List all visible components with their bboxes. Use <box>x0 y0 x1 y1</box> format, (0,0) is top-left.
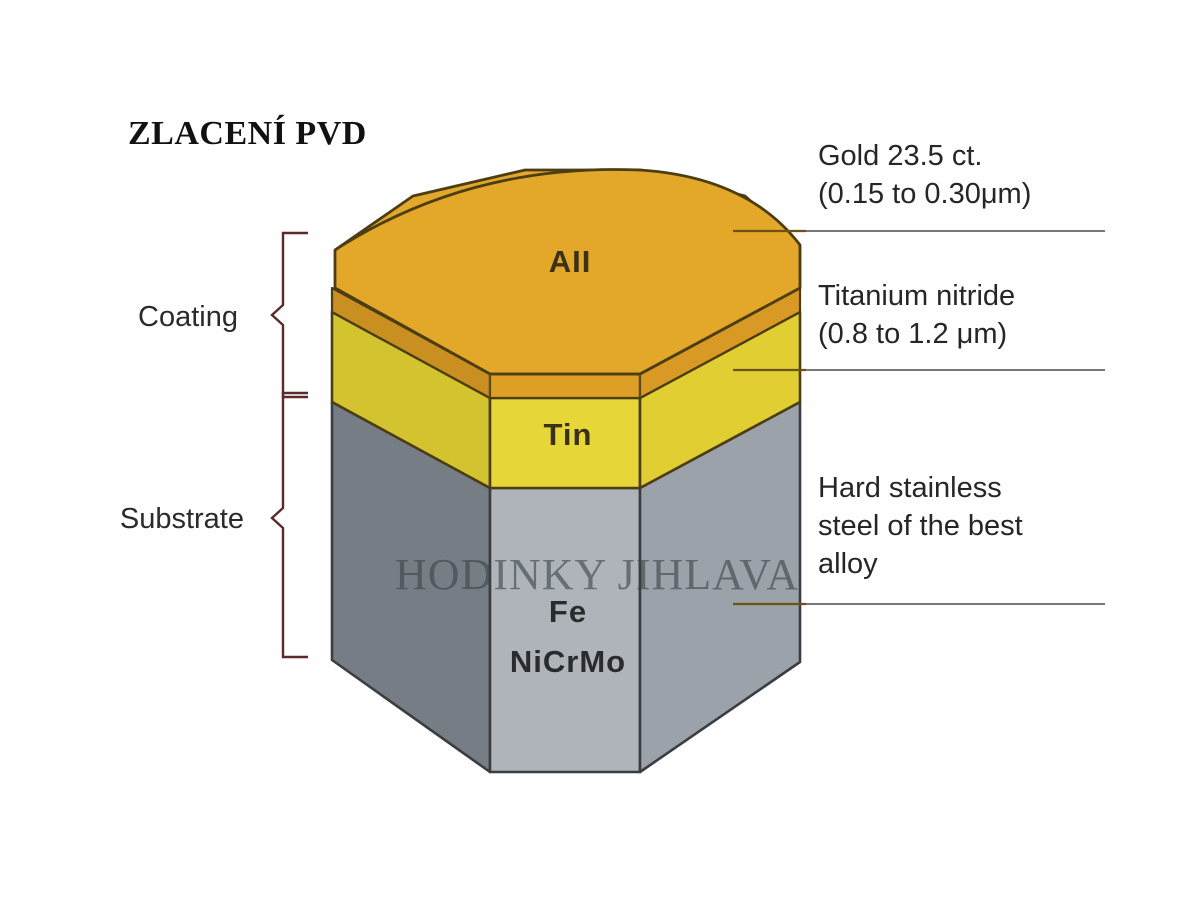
callout-steel-line1: Hard stainless <box>818 472 1002 504</box>
callout-gold: Gold 23.5 ct. (0.15 to 0.30μm) <box>733 140 1105 231</box>
substrate-bracket-shape <box>272 393 308 657</box>
watermark-text: HODINKY JIHLAVA <box>395 550 799 599</box>
gold-layer-label: AII <box>549 244 592 279</box>
callout-gold-line1: Gold 23.5 ct. <box>818 140 982 172</box>
callout-tin-line2: (0.8 to 1.2 μm) <box>818 318 1007 350</box>
bracket-coating: Coating <box>138 233 308 397</box>
gold-front-band <box>490 374 640 398</box>
callout-steel-line3: alloy <box>818 548 878 580</box>
substrate-bracket-label: Substrate <box>120 503 244 535</box>
coating-bracket-shape <box>272 233 308 397</box>
callout-gold-line2: (0.15 to 0.30μm) <box>818 178 1031 210</box>
substrate-label-line1: Fe <box>549 594 587 629</box>
diagram-canvas: ZLACENÍ PVD AII Tin HODINKY JIHLAVA <box>0 0 1200 900</box>
bracket-substrate: Substrate <box>120 393 308 657</box>
substrate-front-face <box>490 488 640 772</box>
coating-bracket-label: Coating <box>138 301 238 333</box>
substrate-label-line2: NiCrMo <box>510 644 626 679</box>
page-title: ZLACENÍ PVD <box>128 115 367 152</box>
pvd-coating-diagram: ZLACENÍ PVD AII Tin HODINKY JIHLAVA <box>0 0 1200 900</box>
callout-tin-line1: Titanium nitride <box>818 280 1015 312</box>
tin-layer-label: Tin <box>544 417 593 452</box>
callout-steel-line2: steel of the best <box>818 510 1023 542</box>
